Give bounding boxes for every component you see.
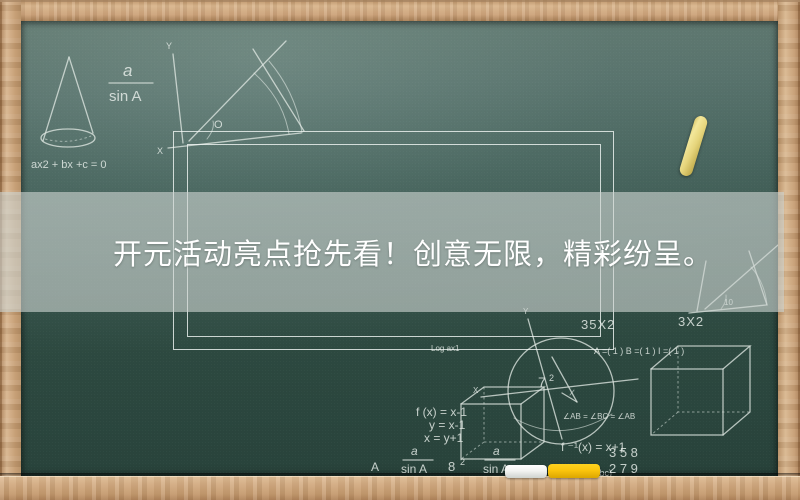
chalk-quadratic-equation: ax2 + bx +c = 0 — [31, 159, 107, 171]
svg-text:Y: Y — [166, 41, 172, 51]
chalk-fraction-a-sin-a-top: a sin A — [109, 61, 153, 105]
caption-text: 开元活动亮点抢先看！创意无限，精彩纷呈。 — [113, 231, 713, 273]
chalk-cube-right — [651, 346, 750, 435]
chalk-piece-yellow — [548, 464, 600, 478]
svg-text:f (x) = x-1: f (x) = x-1 — [416, 405, 467, 419]
svg-text:a: a — [123, 61, 132, 80]
svg-text:O: O — [214, 119, 223, 131]
svg-text:a: a — [493, 444, 500, 458]
chalk-angle-identities: ∠AB = ∠BC = ∠AB — [563, 412, 635, 421]
svg-text:X: X — [473, 386, 479, 395]
chalk-fraction-a-sin-a-left: a sin A — [401, 444, 433, 476]
svg-text:X: X — [157, 146, 163, 156]
chalk-piece-white — [505, 465, 547, 478]
chalkboard-banner: a sin A Y X O ax2 + bx +c = 0 — [0, 0, 800, 500]
caption-band: 开元活动亮点抢先看！创意无限，精彩纷呈。 — [0, 192, 784, 312]
chalk-long-addition: 3 5 8 2 7 9 6 3 7 — [607, 445, 654, 476]
chalk-eight-squared: 8 — [448, 459, 455, 474]
chalk-cube-left — [461, 387, 544, 459]
svg-text:sin A: sin A — [109, 88, 142, 105]
svg-text:a: a — [411, 444, 418, 458]
chalk-cone-drawing — [41, 57, 95, 147]
wood-chalk-ledge — [0, 476, 800, 500]
chalk-label-3x2: 3X2 — [678, 314, 704, 329]
chalk-eight-exponent: 2 — [460, 457, 465, 467]
chalk-letter-a: A — [371, 460, 379, 474]
chalk-seven-exponent: 2 — [549, 373, 554, 383]
svg-text:x = y+1: x = y+1 — [424, 431, 464, 445]
svg-text:y = x-1: y = x-1 — [429, 418, 466, 432]
chalk-function-lines: f (x) = x-1 y = x-1 x = y+1 — [416, 405, 467, 445]
svg-text:3 5 8: 3 5 8 — [609, 445, 638, 460]
